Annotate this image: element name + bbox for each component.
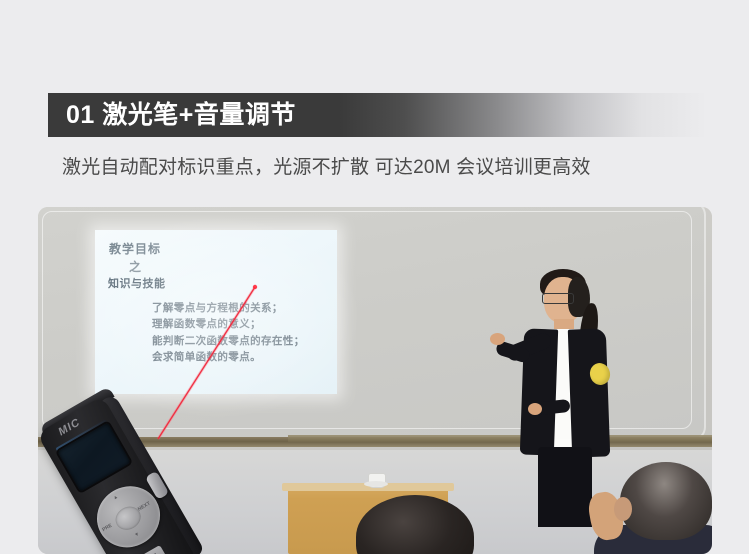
dpad-down-icon[interactable]: ▼ bbox=[134, 531, 141, 539]
dpad-up-icon[interactable]: ▲ bbox=[112, 494, 119, 502]
slide-title-line2: 之 bbox=[129, 258, 142, 275]
section-subtitle: 激光自动配对标识重点，光源不扩散 可达20M 会议培训更高效 bbox=[62, 152, 591, 179]
presenter-pants bbox=[538, 447, 592, 527]
presenter-jacket-right bbox=[568, 328, 610, 457]
presenter-figure bbox=[500, 267, 640, 517]
cup-lid bbox=[364, 481, 388, 487]
presenter-raised-hand bbox=[490, 333, 505, 345]
presenter-lower-hand bbox=[528, 403, 542, 415]
device-ff-button[interactable]: FF bbox=[141, 545, 169, 554]
dpad-prev-label[interactable]: PRE bbox=[101, 523, 113, 533]
slide-body-text: 了解零点与方程根的关系； 理解函数零点的意义； 能判断二次函数零点的存在性； 会… bbox=[152, 300, 305, 365]
slide-body-line: 会求简单函数的零点。 bbox=[152, 349, 305, 365]
presenter-glasses bbox=[542, 293, 574, 304]
audience-member-2-head bbox=[620, 462, 712, 540]
section-title-band: 01 激光笔+音量调节 bbox=[48, 93, 708, 137]
slide-body-line: 理解函数零点的意义； bbox=[152, 316, 305, 332]
projected-slide: 教学目标 之 知识与技能 了解零点与方程根的关系； 理解函数零点的意义； 能判断… bbox=[95, 230, 337, 394]
product-feature-page: 01 激光笔+音量调节 激光自动配对标识重点，光源不扩散 可达20M 会议培训更… bbox=[0, 0, 749, 554]
slide-body-line: 了解零点与方程根的关系； bbox=[152, 300, 305, 316]
slide-title-line1: 教学目标 bbox=[109, 242, 161, 257]
product-usage-photo: 教学目标 之 知识与技能 了解零点与方程根的关系； 理解函数零点的意义； 能判断… bbox=[38, 207, 712, 554]
audience-member-2-ear bbox=[614, 497, 632, 521]
section-title-text: 01 激光笔+音量调节 bbox=[48, 103, 296, 128]
slide-body-line: 能判断二次函数零点的存在性； bbox=[152, 333, 305, 349]
slide-title-line3: 知识与技能 bbox=[108, 275, 166, 291]
